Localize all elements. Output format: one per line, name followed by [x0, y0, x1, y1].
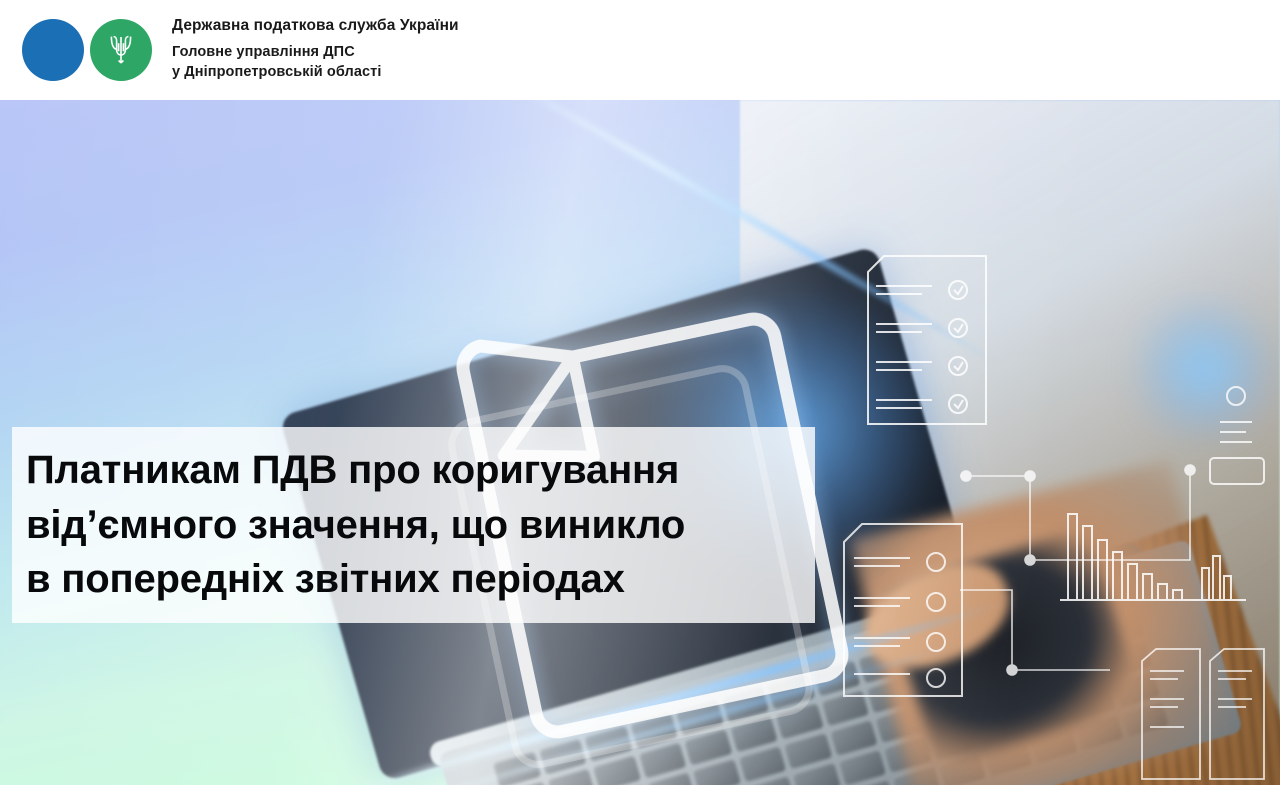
org-text-block: Державна податкова служба України Головн…: [172, 16, 459, 83]
blue-circle-icon: [22, 19, 84, 81]
site-header: Державна податкова служба України Головн…: [0, 0, 1280, 100]
headline-overlay-panel: Платникам ПДВ про коригування від’ємного…: [12, 427, 815, 623]
org-name: Державна податкова служба України: [172, 16, 459, 35]
green-circle-icon: [90, 19, 152, 81]
department-line-1: Головне управління ДПС: [172, 42, 459, 62]
logo: [22, 19, 162, 81]
hero-image: Платникам ПДВ про коригування від’ємного…: [0, 100, 1280, 785]
headline-line-3: в попередніх звітних періодах: [26, 552, 801, 606]
page-title: Платникам ПДВ про коригування від’ємного…: [26, 443, 801, 606]
department-line-2: у Дніпропетровській області: [172, 62, 459, 82]
ukraine-trident-icon: [108, 33, 134, 67]
banner-page: Державна податкова служба України Головн…: [0, 0, 1280, 785]
headline-line-1: Платникам ПДВ про коригування: [26, 443, 801, 497]
headline-line-2: від’ємного значення, що виникло: [26, 498, 801, 552]
